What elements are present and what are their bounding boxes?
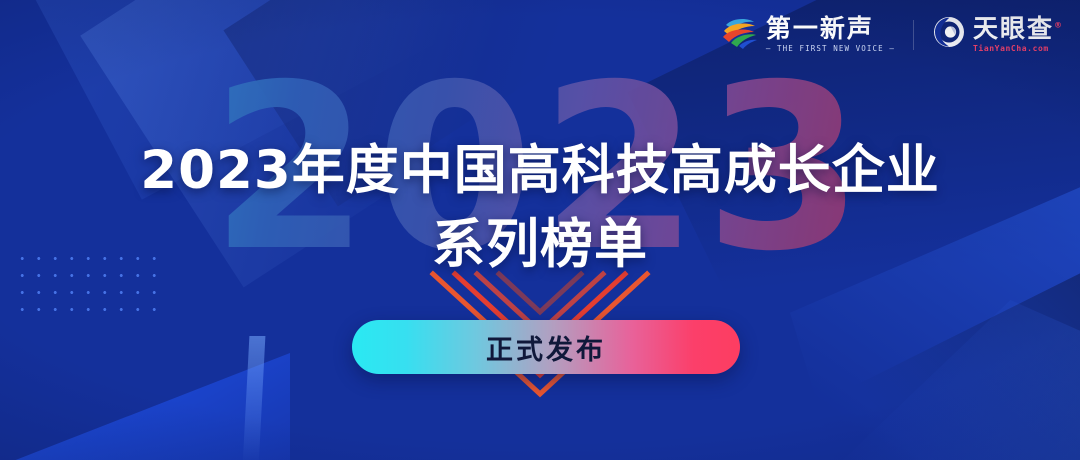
logo-tianyancha-text: 天眼查® TianYanCha.com — [973, 16, 1064, 53]
logo-tianyancha-name: 天眼查® — [973, 16, 1064, 41]
release-status-label: 正式发布 — [486, 328, 606, 367]
logo-row: 第一新声 — THE FIRST NEW VOICE — 天眼查® TianYa… — [719, 13, 1064, 56]
promo-banner: 2023 2023年度中国高科技高成长企业 系列榜单 正式发布 — [0, 0, 1080, 460]
logo-diyixinsheng[interactable]: 第一新声 — THE FIRST NEW VOICE — — [719, 13, 895, 56]
page-title: 2023年度中国高科技高成长企业 系列榜单 — [0, 134, 1080, 282]
headline-line-1: 2023年度中国高科技高成长企业 — [0, 134, 1080, 208]
swirl-ribbon-logo-icon — [719, 13, 759, 56]
logo-tianyancha-name-cn: 天眼查 — [973, 14, 1054, 43]
logo-diyixinsheng-name: 第一新声 — [766, 16, 895, 41]
background-facet-bottom-right — [780, 300, 1080, 460]
logo-divider — [913, 20, 914, 50]
logo-diyixinsheng-text: 第一新声 — THE FIRST NEW VOICE — — [766, 16, 895, 53]
logo-tianyancha[interactable]: 天眼查® TianYanCha.com — [932, 15, 1064, 54]
headline-line-2: 系列榜单 — [0, 208, 1080, 282]
logo-tianyancha-domain: TianYanCha.com — [973, 45, 1064, 53]
background-triangle-bottom-left — [0, 320, 290, 460]
logo-diyixinsheng-tagline: — THE FIRST NEW VOICE — — [766, 45, 895, 53]
trademark-icon: ® — [1054, 21, 1064, 30]
release-status-pill[interactable]: 正式发布 — [352, 320, 740, 374]
camera-aperture-eye-logo-icon — [932, 15, 966, 54]
background-triangle-edge-glow — [243, 336, 266, 460]
